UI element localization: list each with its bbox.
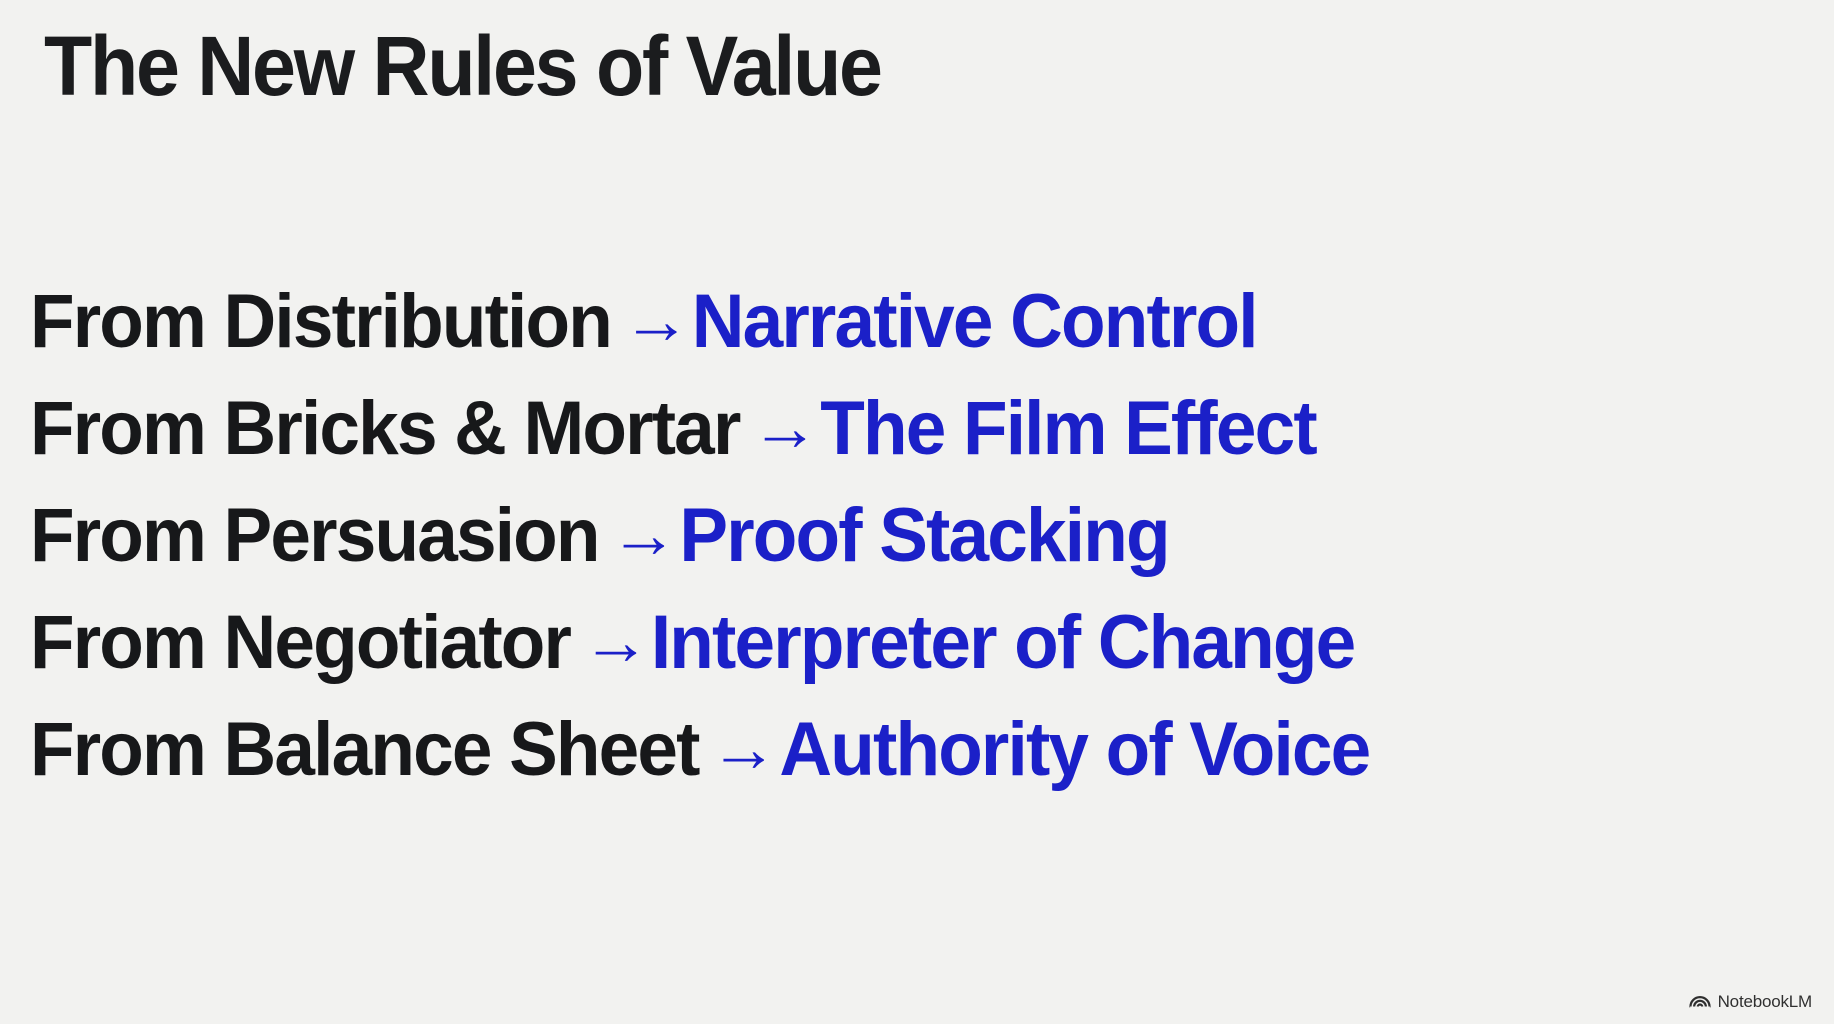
notebooklm-watermark: NotebookLM: [1689, 990, 1812, 1012]
rule-row: From Negotiator → Interpreter of Change: [30, 589, 1748, 696]
rule-to-label: Narrative Control: [692, 284, 1257, 360]
rule-row: From Bricks & Mortar → The Film Effect: [30, 375, 1748, 482]
page-title: The New Rules of Value: [44, 24, 881, 108]
arrow-right-icon: →: [608, 287, 695, 353]
rule-to-label: The Film Effect: [820, 391, 1316, 467]
rule-from-label: From Persuasion: [30, 498, 599, 574]
arrow-right-icon: →: [595, 501, 682, 567]
notebooklm-label: NotebookLM: [1718, 993, 1812, 1010]
slide-canvas: The New Rules of Value From Distribution…: [0, 0, 1834, 1024]
arrow-right-icon: →: [695, 715, 782, 781]
notebooklm-spiral-icon: [1689, 990, 1711, 1012]
rule-row: From Balance Sheet → Authority of Voice: [30, 696, 1748, 803]
rule-row: From Distribution → Narrative Control: [30, 268, 1748, 375]
arrow-right-icon: →: [736, 394, 823, 460]
rule-to-label: Authority of Voice: [779, 712, 1369, 788]
rule-from-label: From Bricks & Mortar: [30, 391, 740, 467]
arrow-right-icon: →: [567, 608, 654, 674]
rule-to-label: Interpreter of Change: [651, 605, 1355, 681]
rule-from-label: From Balance Sheet: [30, 712, 699, 788]
rule-from-label: From Distribution: [30, 284, 611, 360]
rule-to-label: Proof Stacking: [679, 498, 1168, 574]
rule-from-label: From Negotiator: [30, 605, 570, 681]
rule-row: From Persuasion → Proof Stacking: [30, 482, 1748, 589]
rules-list: From Distribution → Narrative Control Fr…: [30, 268, 1820, 803]
